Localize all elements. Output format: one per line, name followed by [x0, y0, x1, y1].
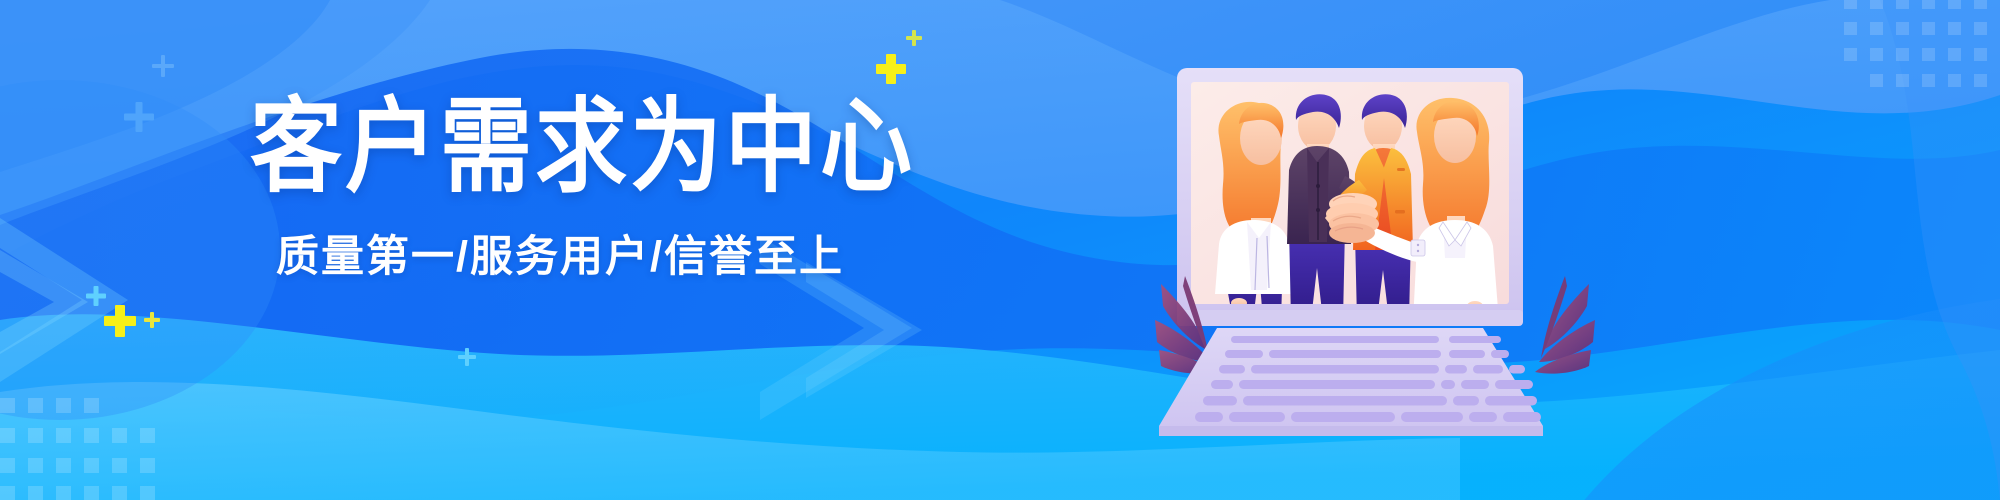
- plant-leaves-right: [1535, 276, 1595, 374]
- cross-yellow-large-top-right: [876, 54, 906, 84]
- cross-blue-small-top-left: [152, 55, 174, 77]
- headline-block: 客户需求为中心 质量第一/服务用户/信誉至上: [250, 96, 870, 279]
- promo-banner: 客户需求为中心 质量第一/服务用户/信誉至上: [0, 0, 2000, 500]
- page-subtitle: 质量第一/服务用户/信誉至上: [250, 236, 870, 279]
- cross-yellow-large-bottom-left: [104, 305, 136, 337]
- page-title: 客户需求为中心: [250, 96, 870, 199]
- cross-cyan-bottom-left: [86, 286, 106, 306]
- cross-cyan-bottom-center: [458, 348, 476, 366]
- laptop-keyboard: [1159, 328, 1543, 436]
- cross-yellow-small-bottom-left: [144, 312, 160, 328]
- cross-blue-mid-left: [124, 102, 154, 132]
- joined-hands-stack: [1326, 193, 1379, 243]
- cross-yellow-small-top-right: [906, 30, 922, 46]
- laptop-with-team-handshake: [1155, 58, 1595, 458]
- laptop-screen-lip: [1177, 310, 1523, 326]
